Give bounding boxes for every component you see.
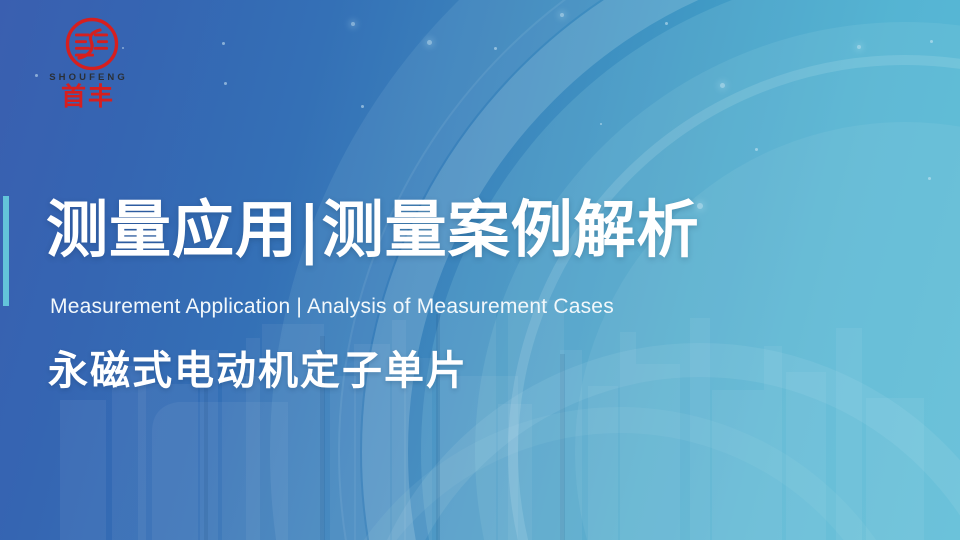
- particle-dot: [427, 40, 432, 45]
- particle-dot: [857, 45, 861, 49]
- particle-dot: [600, 123, 602, 125]
- particle-dot: [755, 148, 758, 151]
- particle-dot: [560, 13, 564, 17]
- logo-chinese-text: 首丰: [28, 82, 146, 112]
- particle-dot: [928, 177, 931, 180]
- particle-dot: [930, 40, 933, 43]
- particle-dot: [665, 22, 668, 25]
- shoufeng-emblem-icon: [64, 16, 120, 72]
- page-title: 测量应用|测量案例解析: [46, 194, 700, 266]
- subtitle-chinese: 永磁式电动机定子单片: [48, 345, 468, 397]
- title-slide: SHOUFENG 首丰 测量应用|测量案例解析 Measurement Appl…: [0, 0, 960, 540]
- particle-dot: [361, 105, 364, 108]
- particle-dot: [720, 83, 725, 88]
- title-accent-bar: [3, 196, 9, 306]
- particle-dot: [222, 42, 225, 45]
- particle-dot: [351, 22, 355, 26]
- particle-dot: [494, 47, 497, 50]
- subtitle-english: Measurement Application | Analysis of Me…: [50, 294, 614, 320]
- brand-logo: SHOUFENG 首丰: [28, 16, 146, 112]
- particle-dot: [224, 82, 227, 85]
